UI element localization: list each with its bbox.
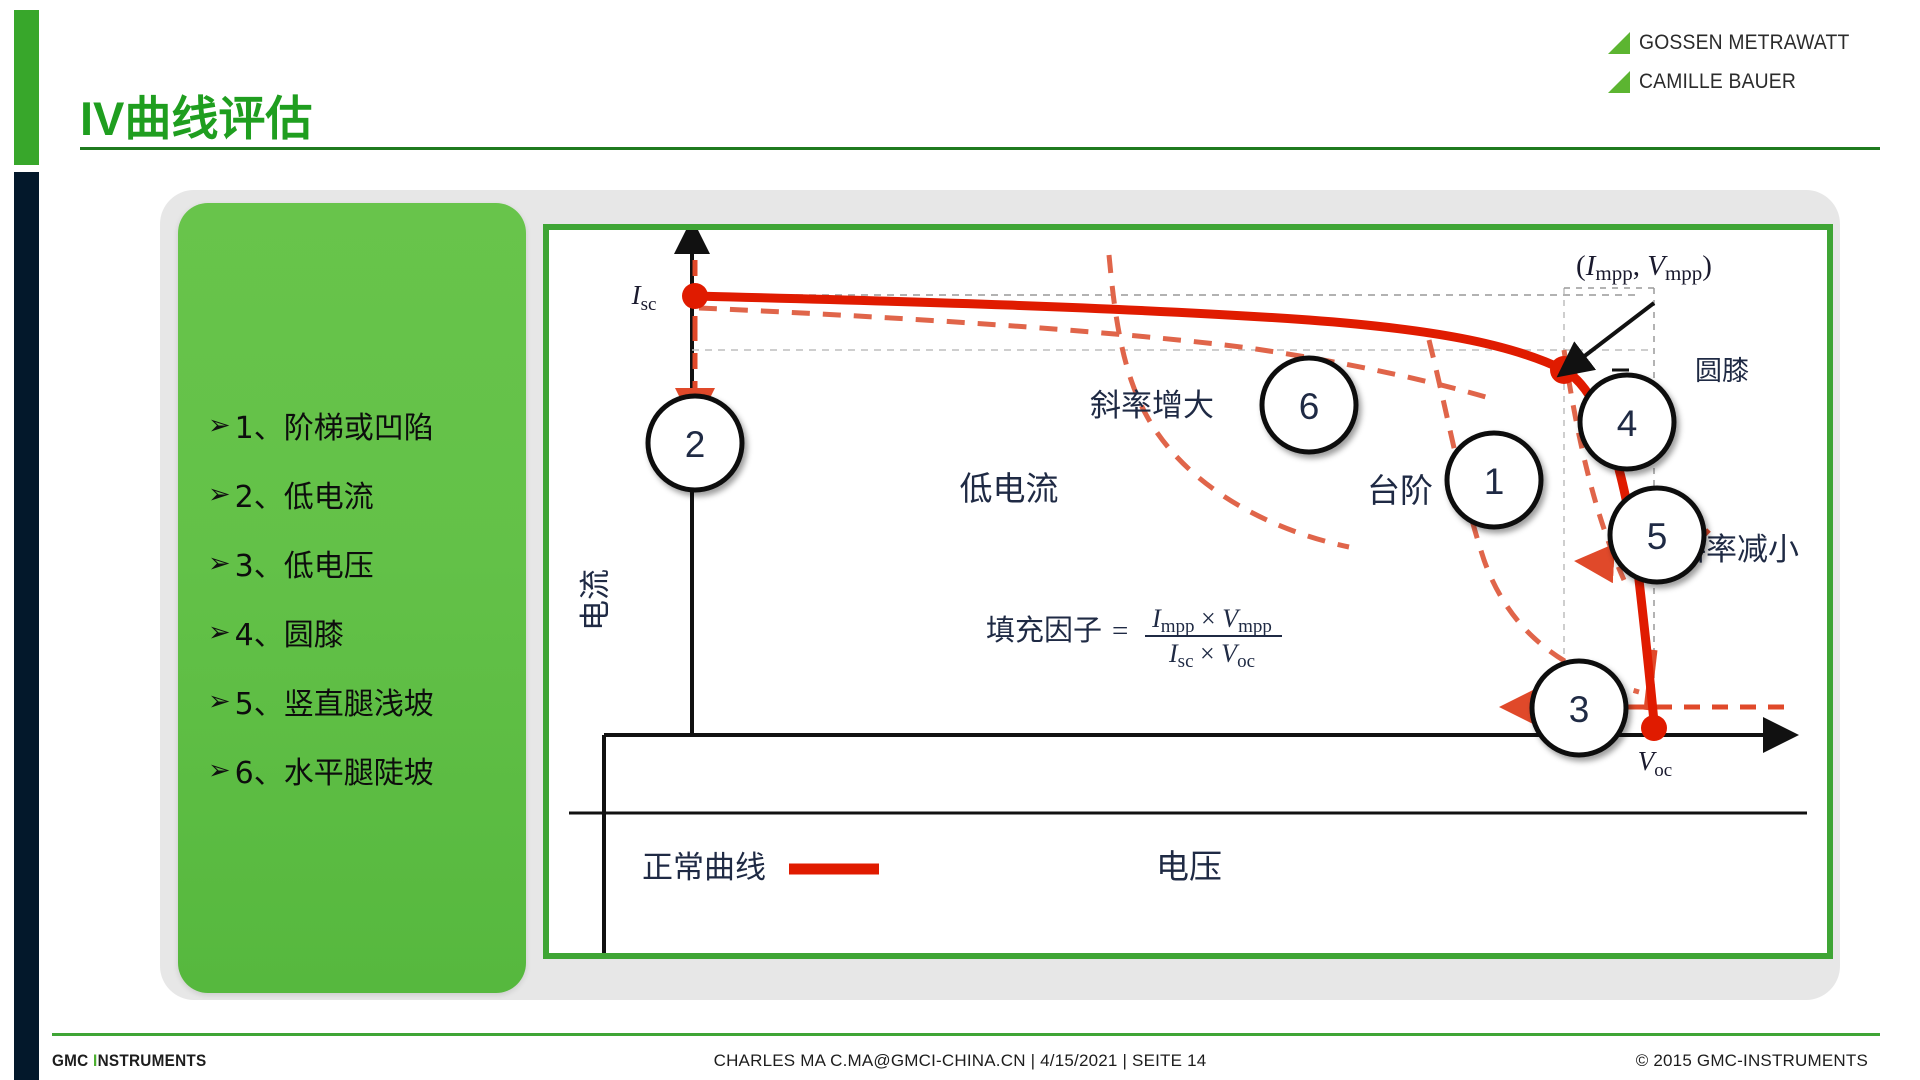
low-current-label: 低电流 (960, 469, 1059, 508)
list-item-label: 3、低电压 (235, 541, 374, 585)
fill-factor-denominator: Isc × Voc (1168, 639, 1255, 672)
y-axis-title: 电流 (578, 569, 614, 631)
fault-list: ➢ 1、阶梯或凹陷 ➢ 2、低电流 ➢ 3、低电压 ➢ 4、圆膝 ➢ 5、竖直腿… (208, 403, 508, 792)
list-item: ➢ 6、水平腿陡坡 (208, 748, 508, 792)
list-item-label: 5、竖直腿浅坡 (235, 679, 434, 723)
callout-bubble-4[interactable]: 4 (1580, 375, 1674, 469)
iv-curve-plot: Isc Voc (Impp, Vmpp) 圆膝 低电流 斜率增大 斜率减小 台阶… (549, 230, 1827, 953)
callout-bubble-5-number: 5 (1647, 516, 1668, 557)
step-label: 台阶 (1367, 471, 1433, 510)
list-item: ➢ 1、阶梯或凹陷 (208, 403, 508, 447)
fill-factor-label: 填充因子 (986, 613, 1102, 647)
brand-name-gossen: GOSSEN METRAWATT (1639, 31, 1849, 55)
title-divider (80, 147, 1880, 150)
bullet-arrow-icon: ➢ (208, 688, 231, 715)
list-item-label: 1、阶梯或凹陷 (235, 403, 434, 447)
green-triangle-icon (1606, 69, 1632, 95)
footer-meta: CHARLES MA C.MA@GMCI-CHINA.CN | 4/15/202… (0, 1051, 1920, 1071)
callout-bubble-1-number: 1 (1484, 461, 1505, 502)
brand-row-gossen: GOSSEN METRAWATT (1606, 30, 1868, 56)
round-knee-label: 圆膝 (1695, 356, 1749, 387)
list-item: ➢ 3、低电压 (208, 541, 508, 585)
bullet-arrow-icon: ➢ (208, 550, 231, 577)
list-item-label: 2、低电流 (235, 472, 374, 516)
callout-bubble-6[interactable]: 6 (1262, 358, 1356, 452)
callout-bubble-2-number: 2 (685, 424, 706, 465)
callout-bubble-5[interactable]: 5 (1610, 488, 1704, 582)
fill-factor-numerator: Impp × Vmpp (1151, 604, 1272, 637)
list-item: ➢ 4、圆膝 (208, 610, 508, 654)
x-axis-title: 电压 (1156, 847, 1222, 886)
slope-increase-label: 斜率增大 (1090, 388, 1214, 424)
callout-bubble-6-number: 6 (1299, 386, 1320, 427)
left-edge-green-bar (14, 10, 39, 165)
list-item-label: 4、圆膝 (235, 610, 344, 654)
bullet-arrow-icon: ➢ (208, 412, 231, 439)
brand-logo: GOSSEN METRAWATT CAMILLE BAUER (1606, 30, 1868, 95)
footer-copyright: © 2015 GMC-INSTRUMENTS (1636, 1051, 1868, 1071)
callout-bubble-1[interactable]: 1 (1447, 433, 1541, 527)
marker-isc (682, 283, 708, 309)
isc-axis-label: Isc (631, 280, 657, 315)
mpp-coordinate-label: (Impp, Vmpp) (1576, 250, 1712, 285)
callout-bubble-3-number: 3 (1569, 689, 1590, 730)
callout-bubble-4-number: 4 (1617, 403, 1638, 444)
brand-name-camille: CAMILLE BAUER (1639, 70, 1796, 94)
bullet-arrow-icon: ➢ (208, 757, 231, 784)
marker-voc (1641, 715, 1667, 741)
marker-mpp (1550, 356, 1578, 384)
left-edge-navy-bar (14, 172, 39, 1080)
page-title: IV曲线评估 (80, 80, 312, 149)
iv-curve-chart-card: Isc Voc (Impp, Vmpp) 圆膝 低电流 斜率增大 斜率减小 台阶… (543, 224, 1833, 959)
bullet-arrow-icon: ➢ (208, 481, 231, 508)
brand-row-camille: CAMILLE BAUER (1606, 69, 1868, 95)
footer-divider (52, 1033, 1880, 1036)
legend-label: 正常曲线 (642, 850, 766, 886)
callout-bubble-2[interactable]: 2 (648, 396, 742, 490)
fault-list-panel: ➢ 1、阶梯或凹陷 ➢ 2、低电流 ➢ 3、低电压 ➢ 4、圆膝 ➢ 5、竖直腿… (178, 203, 526, 993)
list-item: ➢ 2、低电流 (208, 472, 508, 516)
list-item-label: 6、水平腿陡坡 (235, 748, 434, 792)
bullet-arrow-icon: ➢ (208, 619, 231, 646)
list-item: ➢ 5、竖直腿浅坡 (208, 679, 508, 723)
fill-factor-equals: = (1112, 615, 1128, 647)
voc-axis-label: Voc (1638, 746, 1672, 781)
green-triangle-icon (1606, 30, 1632, 56)
callout-bubble-3[interactable]: 3 (1532, 661, 1626, 755)
